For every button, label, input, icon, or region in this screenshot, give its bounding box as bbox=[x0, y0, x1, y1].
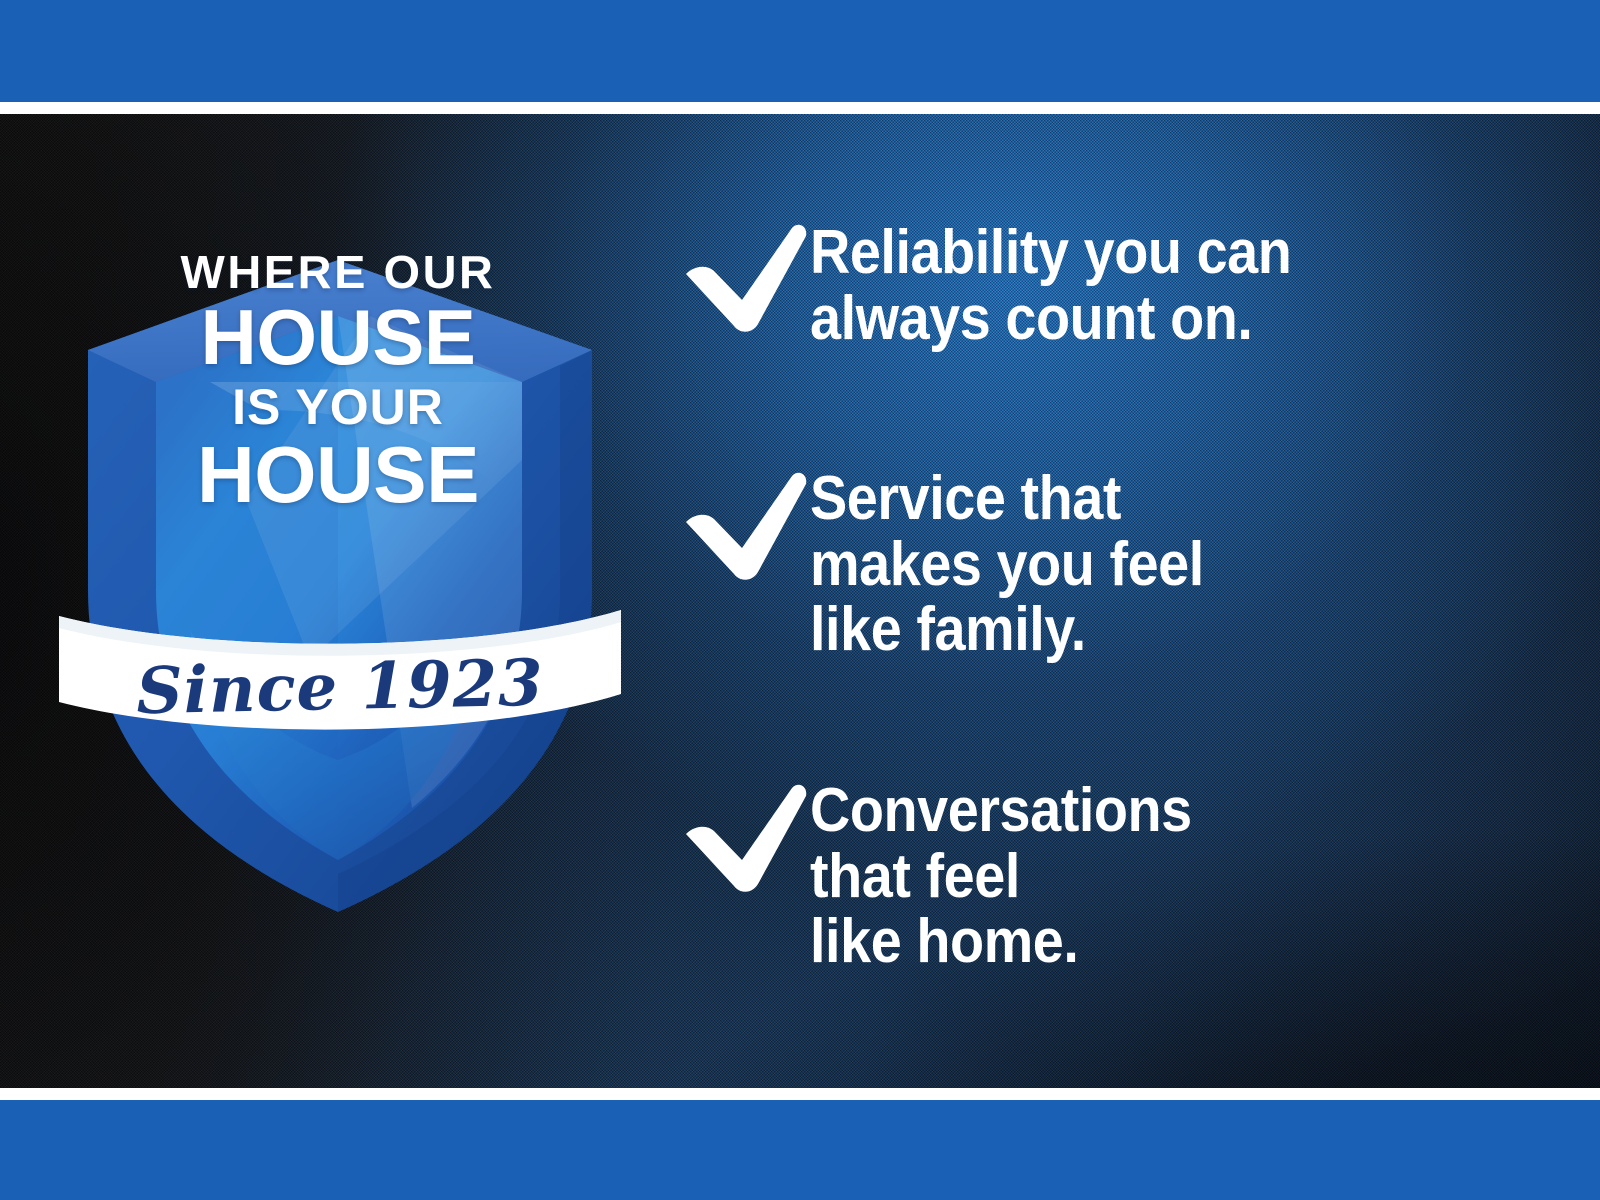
ribbon-label: Since 1923 bbox=[54, 644, 625, 731]
shield-graphic: WHERE OUR HOUSE IS YOUR HOUSE Since 1923 bbox=[60, 160, 620, 930]
bottom-white-rule bbox=[0, 1088, 1600, 1100]
shield-line-house-1: HOUSE bbox=[138, 300, 538, 375]
list-item-text: Service that makes you feel like family. bbox=[810, 462, 1467, 663]
promo-banner: WHERE OUR HOUSE IS YOUR HOUSE Since 1923 bbox=[0, 0, 1600, 1200]
top-white-rule bbox=[0, 102, 1600, 114]
checkmark-icon bbox=[660, 462, 810, 582]
bottom-brand-bar bbox=[0, 1100, 1600, 1200]
list-item-text: Reliability you can always count on. bbox=[810, 214, 1467, 351]
shield-lettering: WHERE OUR HOUSE IS YOUR HOUSE bbox=[138, 250, 538, 514]
list-item: Service that makes you feel like family. bbox=[660, 462, 1540, 663]
checkmark-icon bbox=[660, 214, 810, 334]
top-brand-bar bbox=[0, 0, 1600, 102]
checkmark-icon bbox=[660, 774, 810, 894]
checkmark-glyph bbox=[680, 224, 810, 334]
checkmark-glyph bbox=[680, 472, 810, 582]
shield-line-is-your: IS YOUR bbox=[138, 383, 538, 431]
shield-line-house-2: HOUSE bbox=[138, 437, 538, 514]
checkmark-glyph bbox=[680, 784, 810, 894]
benefits-list: Reliability you can always count on. Ser… bbox=[660, 114, 1540, 1088]
list-item: Reliability you can always count on. bbox=[660, 214, 1540, 351]
list-item-text: Conversations that feel like home. bbox=[810, 774, 1467, 975]
since-ribbon: Since 1923 bbox=[55, 590, 625, 760]
shield-logo: WHERE OUR HOUSE IS YOUR HOUSE Since 1923 bbox=[60, 160, 620, 930]
list-item: Conversations that feel like home. bbox=[660, 774, 1540, 975]
shield-line-where: WHERE OUR bbox=[134, 250, 542, 294]
